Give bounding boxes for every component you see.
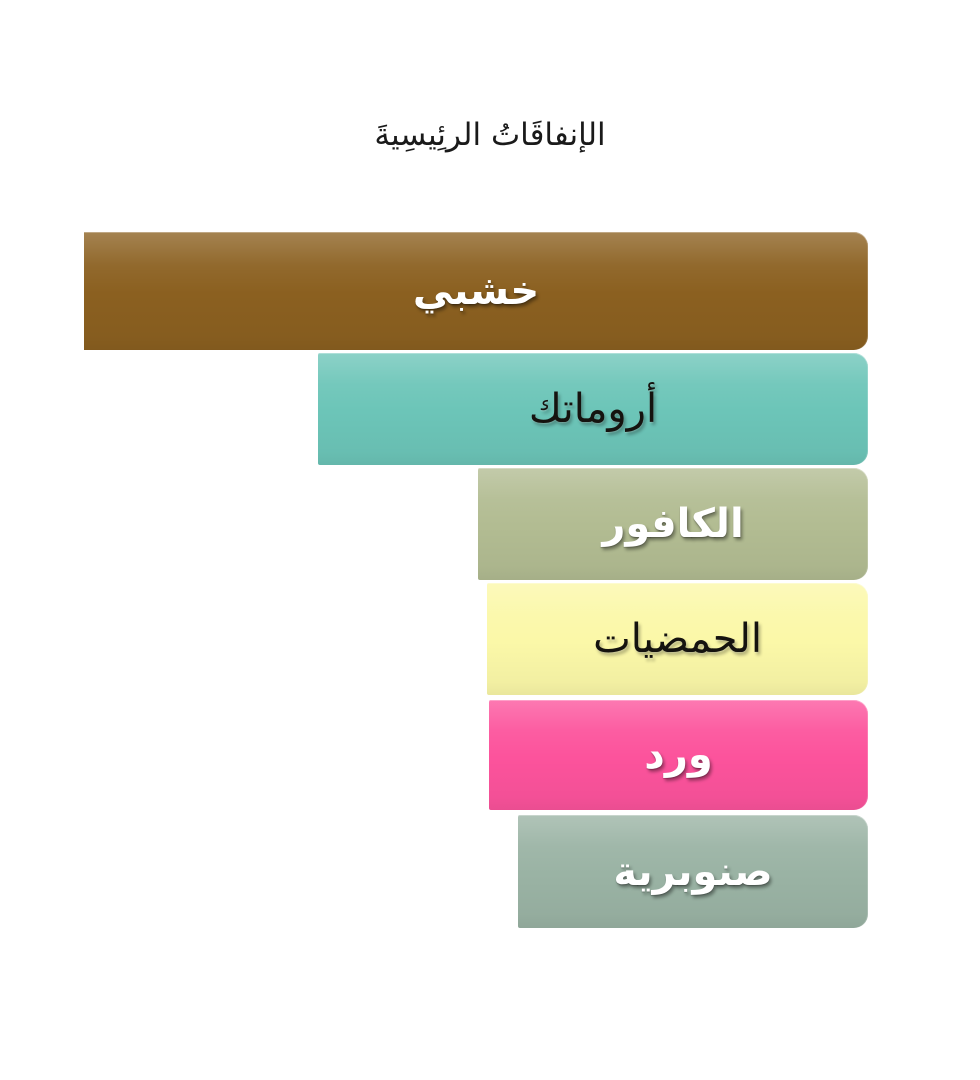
bar-segment[interactable]: ورد [489,700,868,810]
bar-segment[interactable]: صنوبرية [518,815,868,928]
bar-label: خشبي [413,268,539,314]
bar-label: أروماتك [529,386,657,432]
bar-segment[interactable]: خشبي [84,232,868,350]
bar-label: صنوبرية [613,849,772,895]
bar-segment[interactable]: أروماتك [318,353,868,465]
bar-series: خشبيأروماتكالكافورالحمضياتوردصنوبرية [0,0,980,1080]
bar-label: الكافور [602,501,743,547]
chart-canvas: الإنفاقَاتُ الرئِيسِيةَ خشبيأروماتكالكاف… [0,0,980,1080]
bar-label: الحمضيات [593,616,762,662]
bar-segment[interactable]: الحمضيات [487,583,868,695]
bar-segment[interactable]: الكافور [478,468,868,580]
bar-label: ورد [644,732,712,778]
